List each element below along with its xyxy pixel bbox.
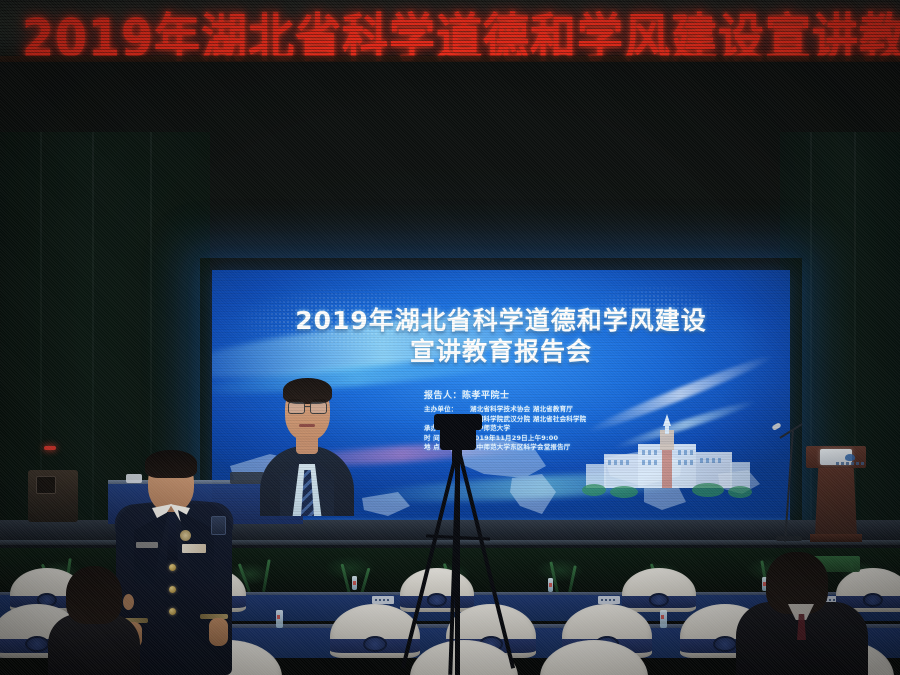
detail-value-1: 中国科学院武汉分院 湖北省社会科学院 — [470, 415, 586, 423]
nameplate — [372, 596, 394, 604]
uniform-nametag — [136, 542, 158, 548]
led-banner: 2019年湖北省科学道德和学风建设宣讲教育报 — [0, 0, 900, 62]
conference-hall-photo: 2019年湖北省科学道德和学风建设宣讲教育报 — [0, 0, 900, 675]
water-bottle — [660, 610, 667, 628]
water-bottle — [548, 578, 553, 592]
camera-tripod — [396, 424, 526, 675]
person-seated-left — [48, 566, 140, 675]
screen-title-line1: 2019年湖北省科学道德和学风建设 — [212, 306, 790, 336]
screen-title-line2: 宣讲教育报告会 — [212, 336, 790, 368]
detail-value-0: 湖北省科学技术协会 湖北省教育厅 — [470, 405, 573, 413]
uniform-emblem-icon — [180, 530, 191, 541]
glasses-icon — [287, 402, 328, 413]
nameplate — [598, 596, 620, 604]
uniform-shoulder-patch — [211, 516, 226, 535]
speaker-portrait — [258, 366, 356, 516]
screen-speaker-line: 报告人：陈孝平院士 — [424, 388, 724, 401]
water-bottle — [276, 610, 283, 628]
red-indicator-light — [44, 446, 56, 450]
podium — [806, 446, 866, 542]
microphone-base — [776, 536, 802, 541]
chair — [540, 640, 648, 675]
stage-equipment — [28, 470, 78, 522]
water-bottle — [352, 576, 357, 590]
uniform-badge — [182, 544, 206, 553]
podium-emblem-icon — [845, 454, 855, 461]
podium-plaque — [820, 449, 852, 465]
led-banner-text: 2019年湖北省科学道德和学风建设宣讲教育报 — [22, 0, 900, 62]
person-seated-right — [736, 552, 868, 675]
screen-title: 2019年湖北省科学道德和学风建设 宣讲教育报告会 — [212, 306, 790, 368]
